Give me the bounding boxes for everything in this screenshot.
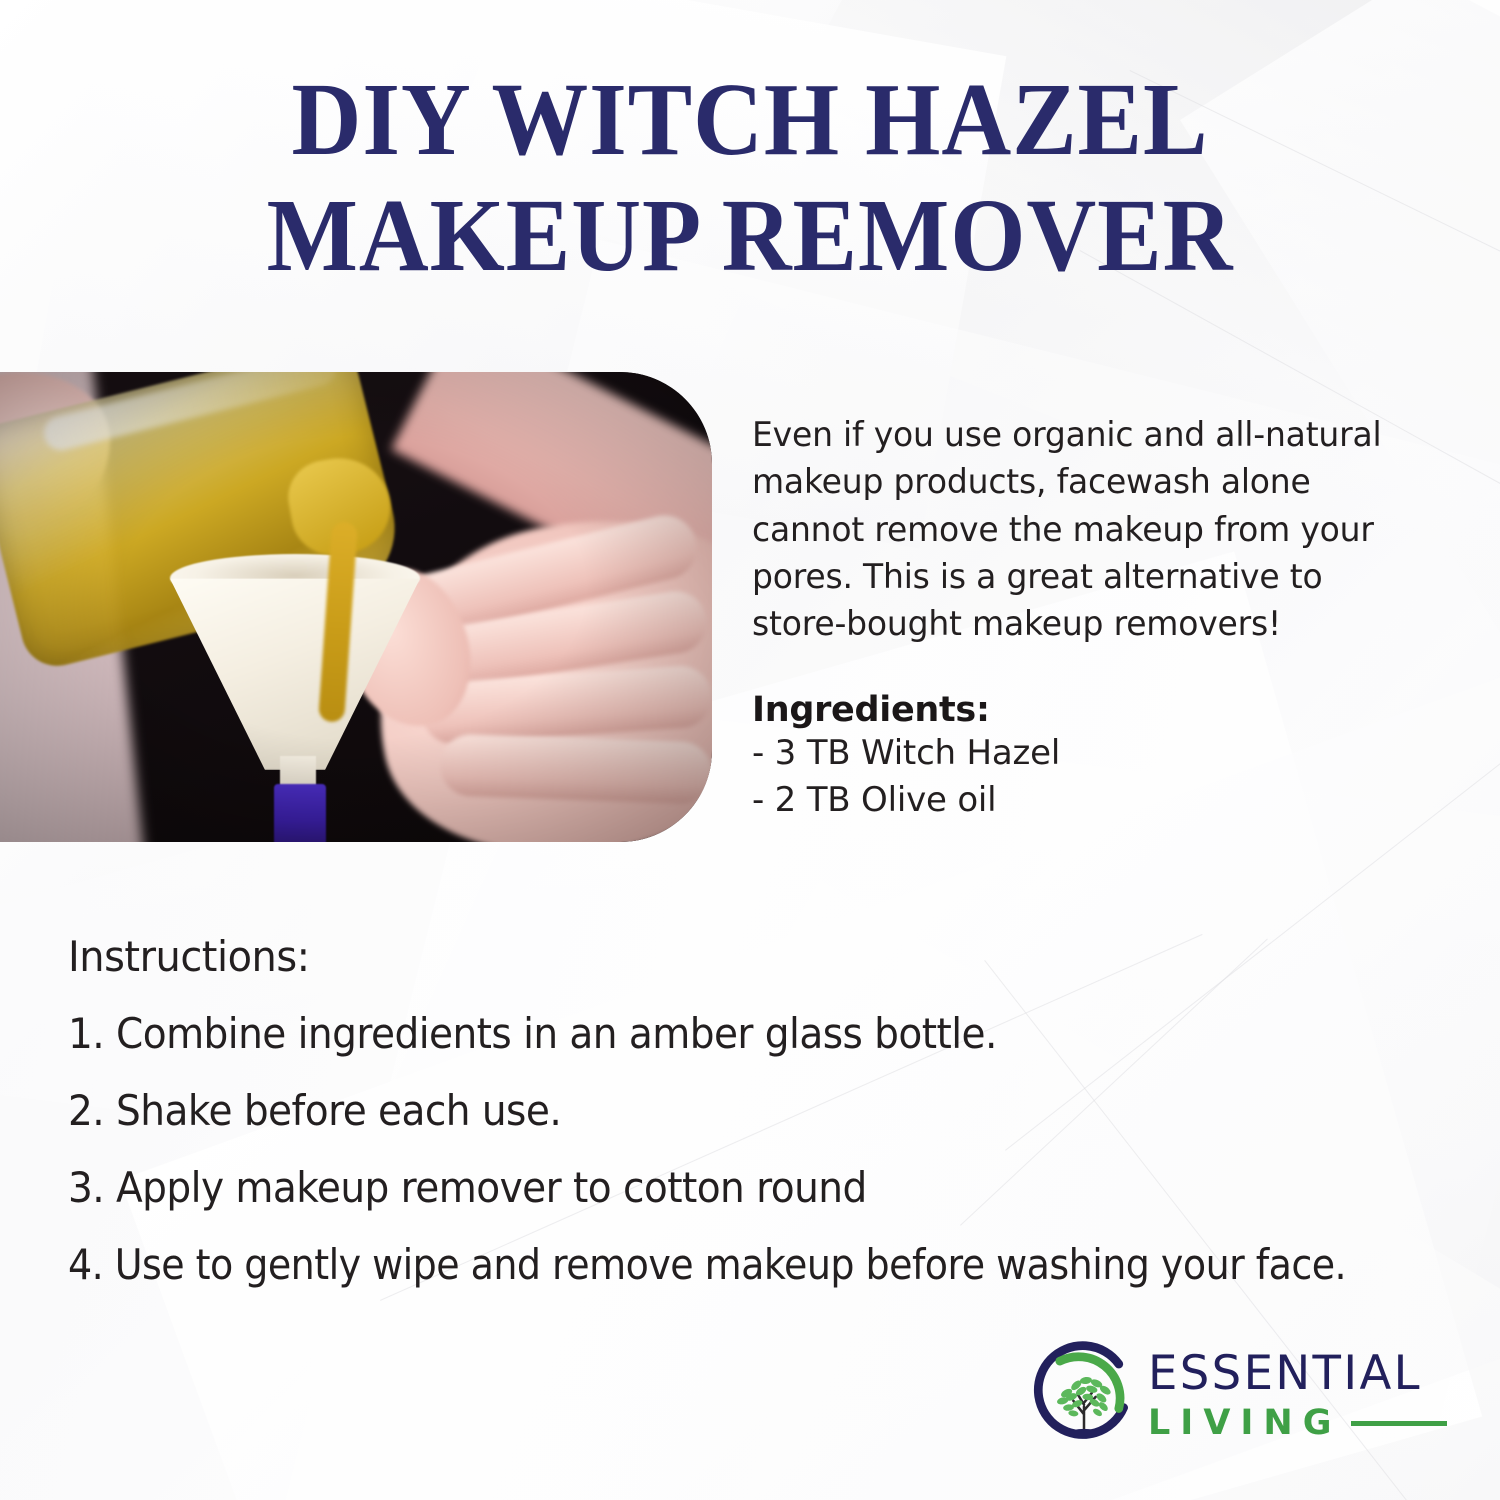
logo-living-text: LIVING [1148,1406,1341,1441]
brand-logo: ESSENTIAL LIVING [1026,1332,1460,1458]
instruction-step: 1. Combine ingredients in an amber glass… [68,1009,1370,1058]
logo-wordmark: ESSENTIAL LIVING [1148,1350,1447,1441]
title-line-1: DIY WITCH HAZEL [53,62,1448,178]
instructions-heading: Instructions: [68,932,1398,981]
logo-rule [1351,1421,1447,1426]
tree-in-circle-icon [1026,1337,1142,1453]
instruction-step: 3. Apply makeup remover to cotton round [68,1163,1370,1212]
intro-column: Even if you use organic and all-natural … [752,412,1442,824]
intro-paragraph: Even if you use organic and all-natural … [752,412,1421,648]
recipe-photo [0,372,712,842]
title-line-2: MAKEUP REMOVER [53,178,1448,294]
instruction-step: 2. Shake before each use. [68,1086,1370,1135]
poster-canvas: DIY WITCH HAZEL MAKEUP REMOVER [0,0,1500,1500]
instruction-step: 4. Use to gently wipe and remove makeup … [68,1240,1335,1289]
ingredient-item: - 2 TB Olive oil [752,777,1442,824]
ingredient-item: - 3 TB Witch Hazel [752,730,1442,777]
page-title: DIY WITCH HAZEL MAKEUP REMOVER [0,62,1500,295]
logo-essential-text: ESSENTIAL [1148,1350,1444,1397]
ingredients-heading: Ingredients: [752,690,1442,730]
instructions-section: Instructions: 1. Combine ingredients in … [68,932,1468,1289]
